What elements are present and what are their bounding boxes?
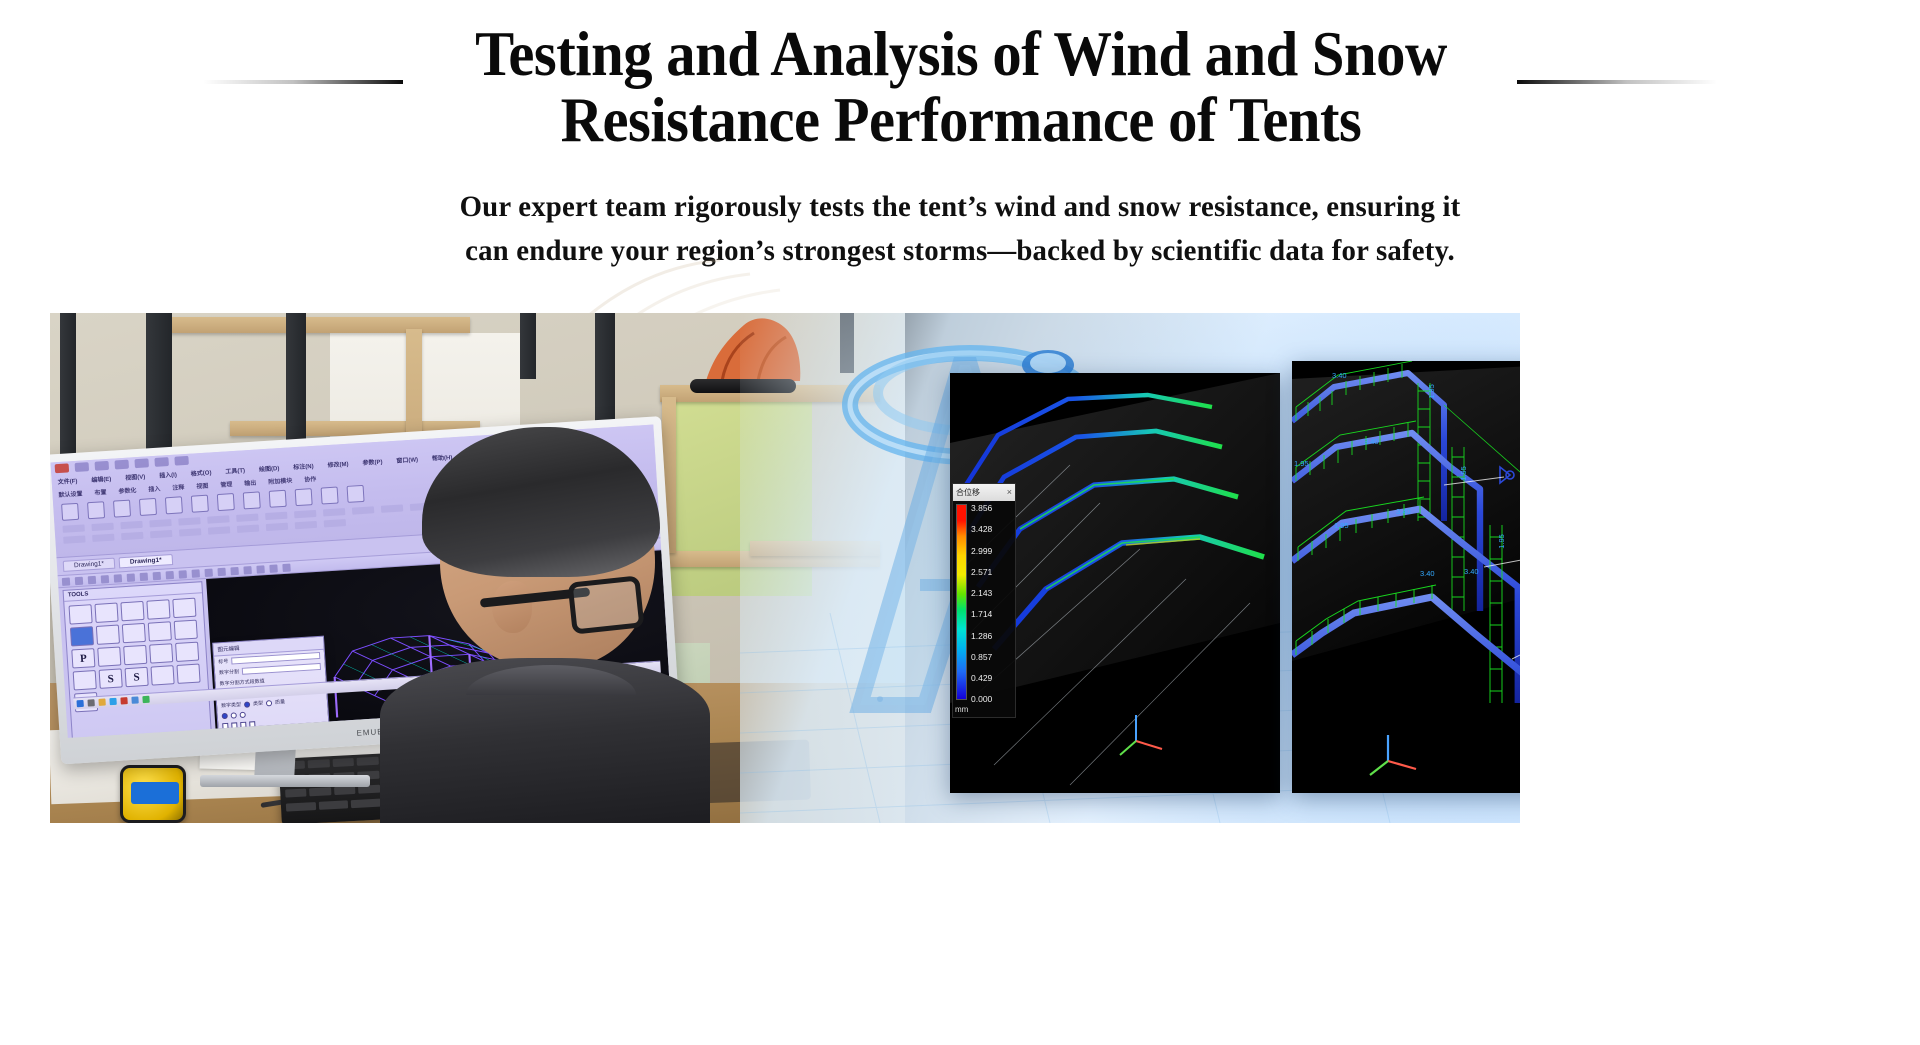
legend-tick: 1.286: [971, 632, 992, 641]
cad-toolbar-button[interactable]: [114, 574, 122, 582]
monitor-base: [200, 775, 370, 787]
cad-ribbon-small-button[interactable]: [150, 530, 172, 538]
column-tool-icon[interactable]: [174, 620, 198, 640]
cad-open-icon[interactable]: [95, 461, 110, 471]
legend-tick: 0.857: [971, 653, 992, 662]
cad-toolbar-button[interactable]: [127, 573, 135, 581]
load-label: 3.40: [1420, 569, 1435, 578]
cad-toolbar-button[interactable]: [75, 576, 83, 584]
sphere-tool-icon[interactable]: [146, 599, 170, 619]
cad-dimension-icon[interactable]: [347, 485, 365, 503]
cad-menu-item[interactable]: 文件(F): [57, 476, 77, 486]
cad-toolbar-button[interactable]: [179, 570, 187, 578]
legend-titlebar[interactable]: 合位移 ×: [953, 484, 1015, 501]
person-ear: [492, 581, 532, 633]
cad-ribbon-tab[interactable]: 默认设置: [58, 489, 83, 499]
legend-tick: 0.000: [971, 695, 992, 704]
close-icon[interactable]: ×: [1007, 488, 1012, 497]
ellipse-tool-icon[interactable]: [96, 625, 120, 645]
cad-save-icon[interactable]: [114, 460, 129, 470]
cad-app-icon[interactable]: [55, 463, 70, 473]
legend-tick: 3.856: [971, 504, 992, 513]
cad-ribbon-tab[interactable]: 协作: [304, 474, 317, 484]
cad-ribbon-tab[interactable]: 附加模块: [268, 475, 293, 485]
legend-tick: 0.429: [971, 674, 992, 683]
cad-menu-item[interactable]: 插入(I): [159, 470, 177, 480]
page-title: Testing and Analysis of Wind and Snow Re…: [468, 22, 1454, 153]
cad-print-icon[interactable]: [174, 456, 189, 466]
start-menu-icon[interactable]: [76, 700, 83, 707]
poster-root: Testing and Analysis of Wind and Snow Re…: [0, 0, 1920, 1045]
legend-tick: 1.714: [971, 610, 992, 619]
legend-tick: 3.428: [971, 525, 992, 534]
glasses-lens: [567, 575, 644, 634]
legend-tick: 2.143: [971, 589, 992, 598]
divider-line-left: [203, 80, 403, 84]
load-label: 1.95: [1497, 534, 1506, 549]
cad-menu-item[interactable]: 工具(T): [225, 465, 245, 475]
plate-tool-icon[interactable]: [97, 646, 121, 666]
cad-ribbon-small-button[interactable]: [207, 515, 229, 523]
beam-tool-icon[interactable]: [148, 621, 172, 641]
cad-trim-icon[interactable]: [269, 490, 287, 508]
load-label: 1.95: [1427, 384, 1436, 399]
cad-ribbon-small-button[interactable]: [62, 524, 84, 532]
load-label: 1.95: [1294, 459, 1309, 468]
cad-ribbon-small-button[interactable]: [178, 517, 200, 525]
cad-dialog-radio-selected[interactable]: [244, 701, 250, 707]
load-label: 3.40: [1396, 507, 1411, 516]
cad-image-icon[interactable]: [87, 501, 105, 519]
cad-spline-icon[interactable]: [165, 496, 183, 514]
legend-tick: 2.999: [971, 547, 992, 556]
cad-toolbar-button[interactable]: [282, 563, 290, 571]
check-tool-icon[interactable]: [122, 623, 146, 643]
mail-icon[interactable]: [131, 696, 138, 703]
cad-ribbon-small-button[interactable]: [266, 523, 288, 531]
cad-ribbon-small-button[interactable]: [236, 514, 258, 522]
pipe-tool-icon[interactable]: [73, 670, 97, 690]
cad-ribbon-tab[interactable]: 参数化: [118, 485, 137, 495]
tape-measure: [120, 765, 186, 823]
fea-displacement-panel[interactable]: 合位移 × 3.856 3.428 2.999 2.571 2.143 1.71…: [950, 373, 1280, 793]
cad-text-icon[interactable]: [139, 498, 157, 516]
cad-menu-item[interactable]: 标注(N): [293, 461, 314, 471]
cad-ribbon-small-button[interactable]: [265, 512, 287, 520]
cad-ribbon-small-button[interactable]: [294, 510, 316, 518]
cad-toolbar-button[interactable]: [101, 575, 109, 583]
cad-toolbar-button[interactable]: [217, 567, 225, 575]
solid-sphere-tool-icon[interactable]: [70, 626, 94, 646]
cad-ribbon-tab[interactable]: 注释: [172, 482, 185, 492]
page-title-line-2: Resistance Performance of Tents: [561, 85, 1362, 155]
cad-ribbon-tab[interactable]: 视图: [196, 481, 209, 491]
cad-ribbon-small-button[interactable]: [324, 519, 346, 527]
cad-document-tab-active[interactable]: Drawing1*: [119, 554, 173, 568]
cad-hatch-icon[interactable]: [191, 495, 209, 513]
cad-toolbar-button[interactable]: [166, 570, 174, 578]
header: Testing and Analysis of Wind and Snow Re…: [0, 0, 1920, 313]
cad-menu-item[interactable]: 编辑(E): [91, 474, 112, 484]
cad-menu-item[interactable]: 格式(O): [190, 467, 211, 477]
cad-dialog-radio-label: 类型: [253, 700, 263, 708]
cad-toolbar-button[interactable]: [88, 575, 96, 583]
cad-toolbar-button[interactable]: [256, 565, 264, 573]
tech-overlay: 天 幕: [740, 313, 1520, 823]
cad-arc-icon[interactable]: [243, 491, 261, 509]
cad-tools-palette[interactable]: TOOLS: [63, 581, 213, 738]
cad-ribbon-tab[interactable]: 管理: [220, 479, 233, 489]
subtitle-line-1: Our expert team rigorously tests the ten…: [38, 185, 1881, 229]
fea-load-viewport: 3.40 1.95 3.40 1.95 3.40 1.95 3.40 1.95 …: [1292, 361, 1520, 793]
cad-dialog-label: 数字类型: [221, 701, 241, 709]
load-label: 3.40: [1332, 371, 1347, 380]
cad-ribbon-small-button[interactable]: [121, 532, 143, 540]
shade-tool-icon[interactable]: [175, 642, 199, 662]
cad-ribbon-small-button[interactable]: [91, 523, 113, 531]
cad-ribbon-small-button[interactable]: [120, 521, 142, 529]
cad-ribbon-small-button[interactable]: [295, 521, 317, 529]
load-label: 1.95: [1459, 466, 1468, 481]
cad-toolbar-button[interactable]: [204, 568, 212, 576]
cad-toolbar-button[interactable]: [230, 566, 238, 574]
cad-dialog-radio[interactable]: [266, 700, 272, 706]
surface-tool-icon[interactable]: [123, 645, 147, 665]
cad-layer-icon[interactable]: [295, 488, 313, 506]
section-alt-tool-icon[interactable]: S: [125, 667, 149, 687]
load-label: 3.40: [1364, 437, 1379, 446]
cad-menu-item[interactable]: 绘图(D): [259, 463, 280, 473]
displacement-legend[interactable]: 合位移 × 3.856 3.428 2.999 2.571 2.143 1.71…: [952, 483, 1016, 718]
cad-ribbon-small-button[interactable]: [179, 528, 201, 536]
cad-menu-item[interactable]: 视图(V): [125, 472, 146, 482]
legend-unit-label: mm: [953, 705, 1015, 714]
box-tool-icon[interactable]: [69, 604, 93, 624]
lock-tool-icon[interactable]: [151, 665, 175, 685]
cad-dialog-radio-label: 质量: [275, 698, 285, 706]
cad-new-icon[interactable]: [75, 462, 90, 472]
cad-toolbar-button[interactable]: [243, 566, 251, 574]
title-row: Testing and Analysis of Wind and Snow Re…: [0, 22, 1920, 153]
cad-dialog-label: 数字分割: [219, 668, 239, 676]
copy-tool-icon[interactable]: [172, 598, 196, 618]
cad-block-icon[interactable]: [321, 487, 339, 505]
person-engineer: [380, 433, 710, 823]
cad-redo-icon[interactable]: [154, 457, 169, 467]
legend-tick: 2.571: [971, 568, 992, 577]
cad-play-icon[interactable]: [113, 500, 131, 518]
fea-load-model: [1292, 361, 1520, 793]
legend-body: 3.856 3.428 2.999 2.571 2.143 1.714 1.28…: [953, 501, 1015, 705]
cad-dialog-radio[interactable]: [231, 712, 237, 718]
search-icon[interactable]: [87, 699, 94, 706]
legend-color-bar: [956, 504, 967, 700]
subtitle: Our expert team rigorously tests the ten…: [0, 185, 1920, 273]
load-label: 1.95: [1334, 521, 1349, 530]
cad-ribbon-tab[interactable]: 插入: [148, 484, 161, 494]
cad-dialog-label: 标号: [218, 658, 228, 666]
cad-ribbon-tab[interactable]: 布置: [94, 487, 107, 497]
cad-rectangle-icon[interactable]: [217, 493, 235, 511]
cad-ribbon-small-button[interactable]: [63, 535, 85, 543]
cad-toolbar-button[interactable]: [269, 564, 277, 572]
shelf-board: [170, 317, 470, 333]
browser-icon[interactable]: [109, 698, 116, 705]
cube-tool-icon[interactable]: [120, 601, 144, 621]
cad-ribbon-small-button[interactable]: [208, 526, 230, 534]
person-hair: [422, 427, 660, 577]
cad-ribbon-small-button[interactable]: [149, 519, 171, 527]
section-tool-icon[interactable]: S: [99, 668, 123, 688]
cad-ribbon-tab[interactable]: 输出: [244, 478, 257, 488]
cad-menu-item[interactable]: 修改(M): [327, 459, 349, 469]
frame-tool-icon[interactable]: [149, 643, 173, 663]
chat-icon[interactable]: [142, 696, 149, 703]
tape-measure-label: [131, 782, 179, 804]
cad-document-tab[interactable]: Drawing1*: [63, 558, 116, 572]
no-entry-tool-icon[interactable]: [176, 664, 200, 684]
legend-tick-labels: 3.856 3.428 2.999 2.571 2.143 1.714 1.28…: [971, 504, 992, 704]
cad-ribbon-small-button[interactable]: [323, 508, 345, 516]
cad-ribbon-small-button[interactable]: [352, 506, 374, 514]
cad-undo-icon[interactable]: [134, 458, 149, 468]
cad-toolbar-button[interactable]: [140, 572, 148, 580]
profile-tool-icon[interactable]: P: [71, 648, 95, 668]
cad-toolbar-button[interactable]: [62, 577, 70, 585]
cad-toolbar-button[interactable]: [191, 569, 199, 577]
page-title-line-1: Testing and Analysis of Wind and Snow: [475, 19, 1447, 89]
wedge-tool-icon[interactable]: [94, 603, 118, 623]
cad-table-icon[interactable]: [61, 503, 79, 521]
subtitle-line-2: can endure your region’s strongest storm…: [38, 229, 1881, 273]
cad-taskbar-icon[interactable]: [120, 697, 127, 704]
fea-load-panel[interactable]: 3.40 1.95 3.40 1.95 3.40 1.95 3.40 1.95 …: [1292, 361, 1520, 793]
load-label: 3.40: [1464, 567, 1479, 576]
frame-post: [520, 313, 536, 379]
cad-ribbon-small-button[interactable]: [237, 525, 259, 533]
cad-dialog-radio-selected[interactable]: [222, 713, 228, 719]
legend-title: 合位移: [956, 487, 980, 498]
media-strip: 文件(F) 编辑(E) 视图(V) 插入(I) 格式(O) 工具(T) 绘图(D…: [50, 313, 1520, 823]
cad-ribbon-small-button[interactable]: [92, 534, 114, 542]
divider-line-right: [1517, 80, 1717, 84]
explorer-icon[interactable]: [98, 698, 105, 705]
cad-dialog-radio[interactable]: [240, 712, 246, 718]
cad-toolbar-button[interactable]: [153, 571, 161, 579]
